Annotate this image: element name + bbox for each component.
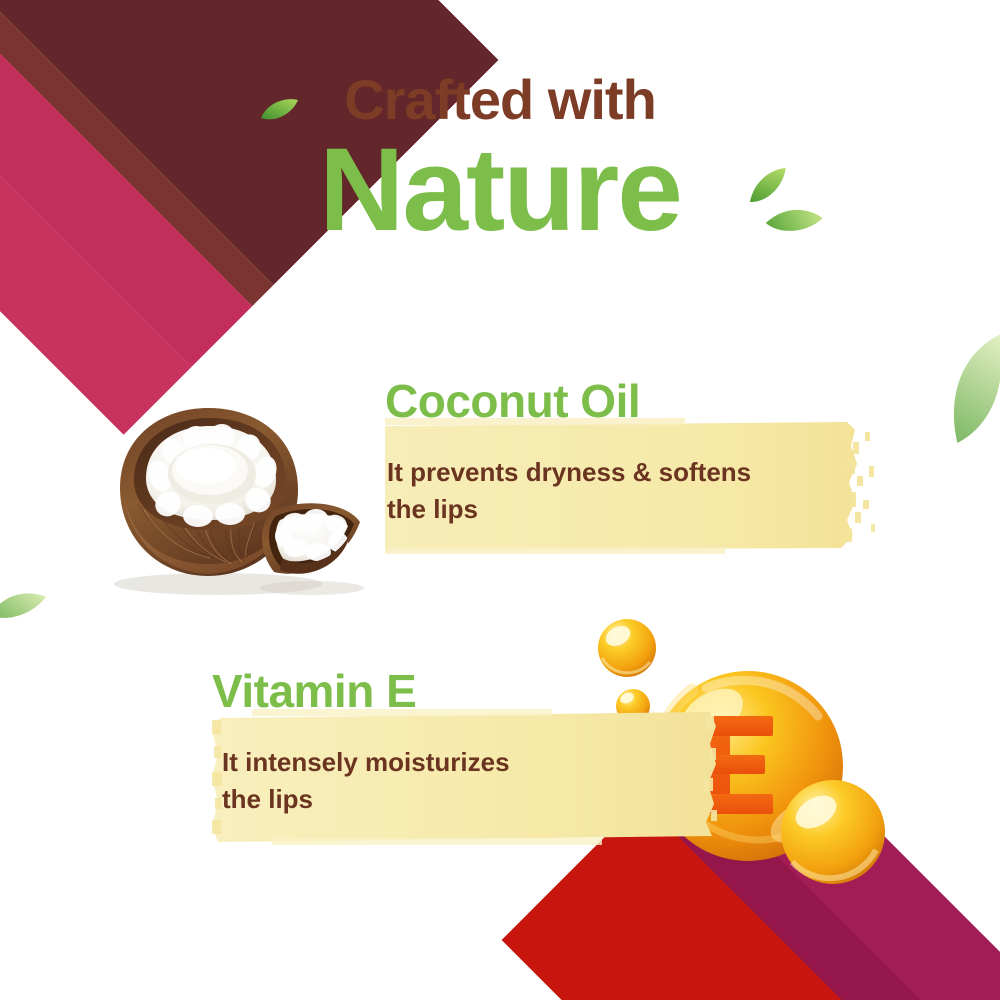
ingredient-description-line: the lips: [222, 781, 642, 818]
leaf-left-edge-icon: [0, 581, 49, 630]
coconut-illustration: [98, 392, 366, 598]
leaf-right-edge-icon: [925, 332, 1000, 448]
ingredient-description-vitamin-e: It intensely moisturizes the lips: [212, 706, 642, 818]
ingredient-coconut-oil: Coconut Oil: [385, 378, 895, 556]
headline-line-1: Crafted with: [0, 72, 1000, 128]
ingredient-title-vitamin-e: Vitamin E: [212, 668, 722, 714]
headline: Crafted with Nature: [0, 72, 1000, 250]
ingredient-description-line: the lips: [387, 491, 847, 528]
ingredient-description-coconut-oil: It prevents dryness & softens the lips: [385, 416, 847, 528]
corner-band-magenta: [680, 697, 1000, 1000]
ingredient-vitamin-e: Vitamin E: [212, 668, 722, 846]
ingredient-title-coconut-oil: Coconut Oil: [385, 378, 895, 424]
poster-canvas: Crafted with Nature: [0, 0, 1000, 1000]
ingredient-band-vitamin-e: It intensely moisturizes the lips: [212, 706, 722, 846]
ingredient-description-line: It intensely moisturizes: [222, 744, 642, 781]
ingredient-description-line: It prevents dryness & softens: [387, 454, 847, 491]
headline-line-2: Nature: [0, 130, 1000, 250]
ingredient-band-coconut-oil: It prevents dryness & softens the lips: [385, 416, 895, 556]
